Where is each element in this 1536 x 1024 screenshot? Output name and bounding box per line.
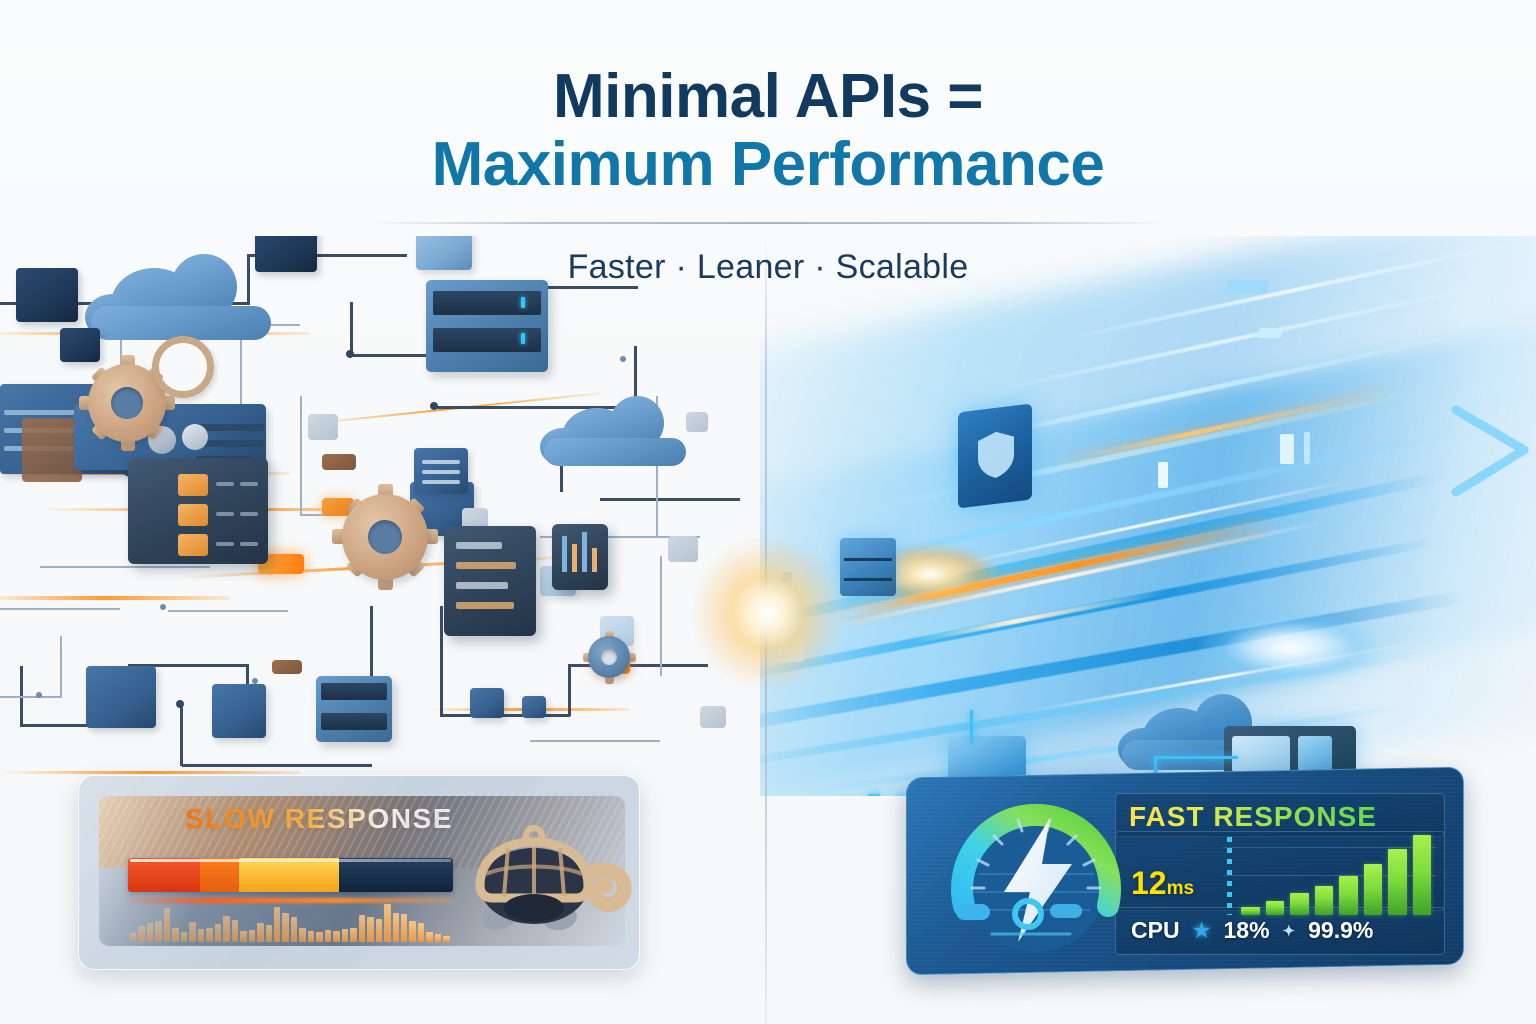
poster-canvas: Minimal APIs = Maximum Performance Faste… (0, 0, 1536, 1024)
chart-bar (1266, 901, 1285, 915)
ring-icon (152, 336, 214, 398)
fast-response-title: FAST RESPONSE (1129, 801, 1377, 833)
histogram-bar (308, 931, 314, 942)
histogram-bar (401, 914, 407, 942)
histogram-bar (426, 932, 432, 942)
chart-bar (1290, 893, 1309, 915)
histogram-bar (130, 933, 136, 942)
histogram-bar (240, 931, 246, 942)
speed-streaks-illustration (760, 236, 1536, 796)
histogram-bar (274, 907, 280, 942)
histogram-bar (367, 917, 373, 942)
histogram-bar (181, 932, 187, 942)
histogram-bar (147, 923, 153, 942)
speed-arrow-icon (1450, 396, 1536, 506)
histogram-bar (215, 924, 221, 942)
chart-bar (1388, 849, 1407, 915)
chart-y-axis (1227, 837, 1232, 915)
histogram-bar (443, 936, 449, 942)
latency-number: 12 (1131, 865, 1167, 901)
node-block-2 (212, 684, 266, 738)
histogram-bar (393, 913, 399, 942)
shield-card-icon (958, 403, 1032, 508)
histogram-bar (172, 928, 178, 942)
gear-icon-3 (588, 636, 630, 678)
histogram-bar (359, 915, 365, 942)
chart-bar (1339, 876, 1358, 915)
sparkle-icon: ✦ (1283, 922, 1296, 940)
histogram-bar (299, 928, 305, 942)
chart-bar (1241, 907, 1260, 915)
fast-metrics-block: FAST RESPONSE 12ms CPU ★ 18% ✦ 99.9% (1115, 793, 1445, 953)
histogram-bar (232, 920, 238, 942)
chart-bar (1315, 886, 1334, 915)
latency-unit: ms (1167, 878, 1194, 899)
histogram-bar (138, 926, 144, 942)
star-icon: ★ (1193, 918, 1211, 943)
throughput-bar-chart (1241, 835, 1431, 915)
title-divider (368, 222, 1168, 224)
cpu-label: CPU (1131, 917, 1180, 944)
histogram-bar (342, 929, 348, 942)
server-rack (426, 280, 548, 372)
histogram-bar (435, 934, 441, 942)
server-rack-2 (316, 676, 392, 742)
histogram-bar (249, 930, 255, 942)
slow-response-title: SLOW RESPONSE (185, 803, 453, 835)
edge-server-icon (840, 538, 896, 596)
legacy-architecture-illustration (0, 236, 768, 796)
histogram-bar (350, 928, 356, 942)
latency-value: 12ms (1131, 865, 1194, 902)
page-title: Minimal APIs = Maximum Performance (432, 66, 1105, 196)
histogram-bar (384, 904, 390, 942)
speedometer-lightning-icon (938, 786, 1134, 958)
histogram-bar (223, 916, 229, 942)
chart-bar (1413, 835, 1432, 915)
histogram-bar (333, 931, 339, 942)
cloud-icon (85, 254, 275, 338)
histogram-bar (206, 928, 212, 942)
histogram-bar (155, 921, 161, 942)
histogram-bar (316, 932, 322, 942)
metrics-pod (552, 524, 608, 590)
cpu-value: 18% (1224, 917, 1270, 944)
histogram-bar (282, 913, 288, 942)
histogram-bar (291, 917, 297, 942)
histogram-bar (257, 923, 263, 942)
histogram-bar (198, 929, 204, 942)
gear-icon-2 (342, 494, 428, 580)
slow-progress-highlight (130, 859, 451, 862)
title-line-2: Maximum Performance (432, 134, 1105, 196)
slow-histogram (130, 902, 450, 942)
stats-row: CPU ★ 18% ✦ 99.9% (1131, 917, 1373, 944)
node-block (86, 666, 156, 728)
turtle-icon (458, 824, 634, 948)
histogram-bar (418, 923, 424, 942)
uptime-value: 99.9% (1308, 917, 1373, 944)
histogram-bar (325, 930, 331, 942)
title-line-1: Minimal APIs = (432, 66, 1105, 128)
cloud-icon-2 (540, 396, 690, 464)
slow-progress-bar (128, 858, 453, 892)
histogram-bar (376, 919, 382, 942)
histogram-bar (189, 922, 195, 942)
chart-bar (1364, 864, 1383, 915)
center-flare (693, 538, 843, 688)
histogram-bar (266, 925, 272, 942)
histogram-bar (409, 921, 415, 942)
histogram-bar (164, 908, 170, 942)
